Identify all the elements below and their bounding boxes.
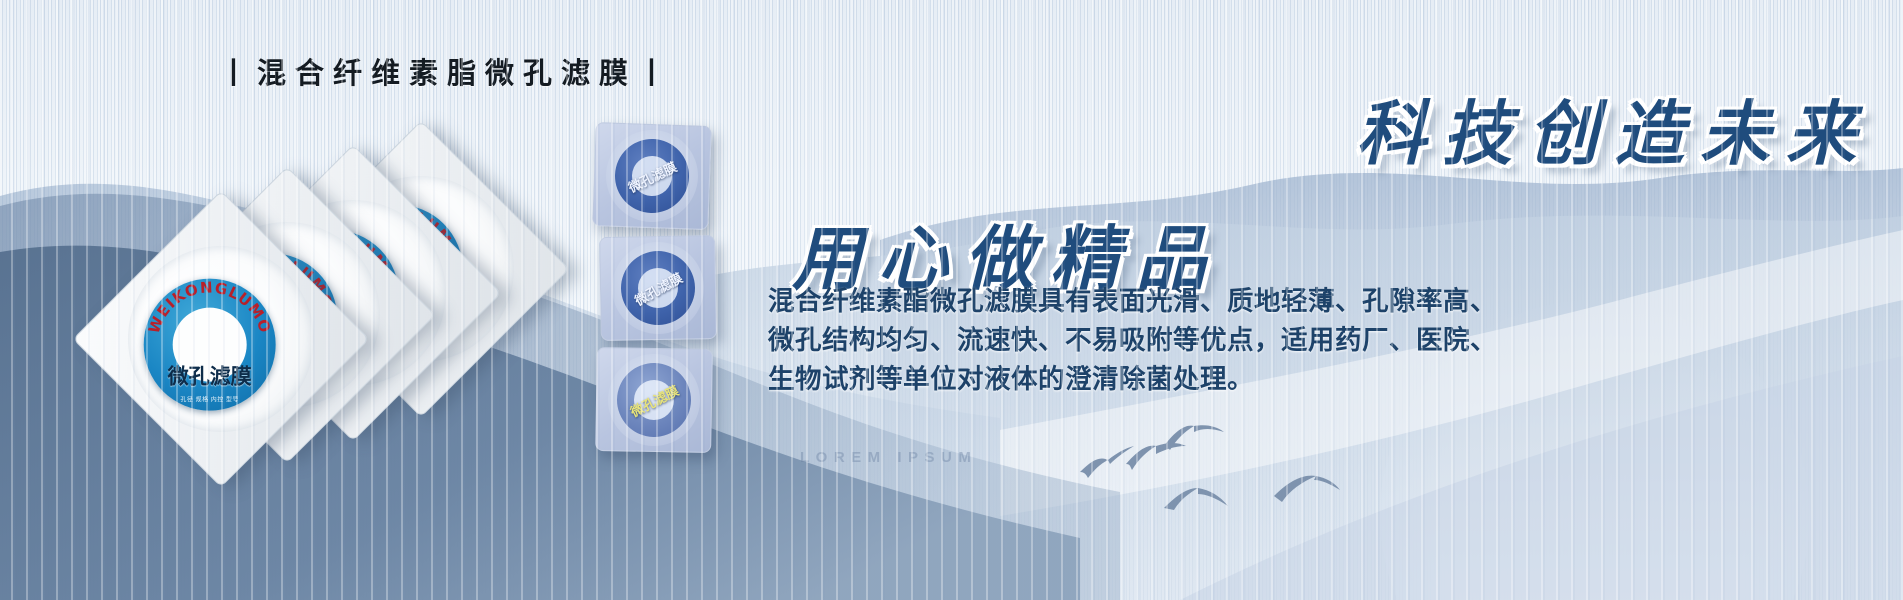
product-photo-group: WEIKONGLUMO 微孔滤膜 孔径 规格 内控 型号 WEIKONGLUMO	[110, 130, 550, 460]
product-label-1: WEIKONGLUMO 微孔滤膜 孔径 规格 内控 型号	[144, 279, 276, 411]
mini-package-2: 微孔滤膜	[599, 235, 717, 341]
mini-label-text-3: 微孔滤膜	[595, 347, 713, 453]
watermark-text: LOREM IPSUM	[800, 449, 977, 466]
mini-label-text-1: 微孔滤膜	[592, 122, 712, 230]
promo-banner: 丨混合纤维素脂微孔滤膜丨 科技创造未来 用心做精品 混合纤维素酯微孔滤膜具有表面…	[0, 0, 1903, 600]
headline-line-1: 科技创造未来	[780, 78, 1880, 179]
mini-package-3: 微孔滤膜	[595, 347, 713, 453]
birds-silhouette	[1060, 380, 1460, 520]
product-label-cn-1: 微孔滤膜	[144, 361, 276, 391]
mini-package-1: 微孔滤膜	[592, 122, 712, 230]
product-label-sub-1: 孔径 规格 内控 型号	[144, 395, 276, 404]
section-title: 丨混合纤维素脂微孔滤膜丨	[219, 50, 675, 92]
description-line-1: 混合纤维素酯微孔滤膜具有表面光滑、质地轻薄、孔隙率高、	[768, 282, 1468, 321]
mini-label-text-2: 微孔滤膜	[599, 235, 717, 341]
mini-package-group: 微孔滤膜 微孔滤膜 微孔滤膜	[594, 124, 734, 454]
headline-block: 科技创造未来 用心做精品	[780, 78, 1880, 304]
description-line-2: 微孔结构均匀、流速快、不易吸附等优点，适用药厂、医院、	[768, 321, 1468, 360]
